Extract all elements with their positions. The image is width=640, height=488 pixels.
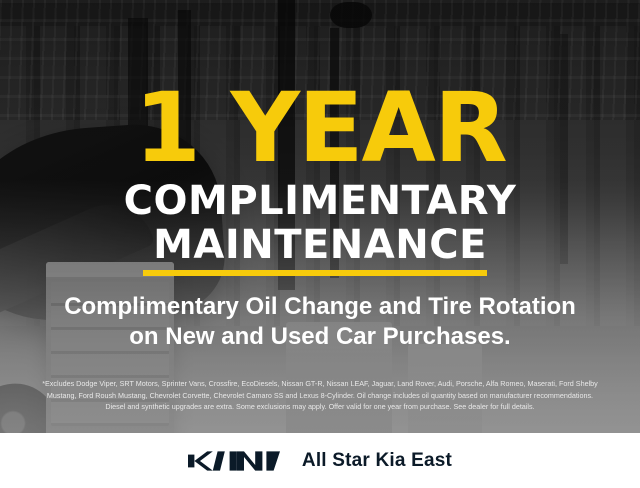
banner-copy: 1 YEAR COMPLIMENTARY MAINTENANCE Complim… [0, 0, 640, 433]
headline-maintenance: MAINTENANCE [0, 224, 640, 266]
kia-logo-icon [188, 448, 280, 474]
yellow-divider-rule [143, 270, 487, 276]
subheading-line-2: on New and Used Car Purchases. [0, 322, 640, 352]
promotional-banner: 1 YEAR COMPLIMENTARY MAINTENANCE Complim… [0, 0, 640, 488]
footer-bar: All Star Kia East [0, 433, 640, 488]
disclaimer-line-1: *Excludes Dodge Viper, SRT Motors, Sprin… [18, 378, 622, 390]
disclaimer-text: *Excludes Dodge Viper, SRT Motors, Sprin… [18, 378, 622, 413]
headline-complimentary: COMPLIMENTARY [0, 180, 640, 222]
dealer-name: All Star Kia East [302, 450, 452, 472]
subheading-line-1: Complimentary Oil Change and Tire Rotati… [0, 292, 640, 322]
headline-year: 1 YEAR [0, 80, 640, 176]
disclaimer-line-2: Mustang, Ford Roush Mustang, Chevrolet C… [18, 390, 622, 402]
disclaimer-line-3: Diesel and synthetic upgrades are extra.… [18, 401, 622, 413]
